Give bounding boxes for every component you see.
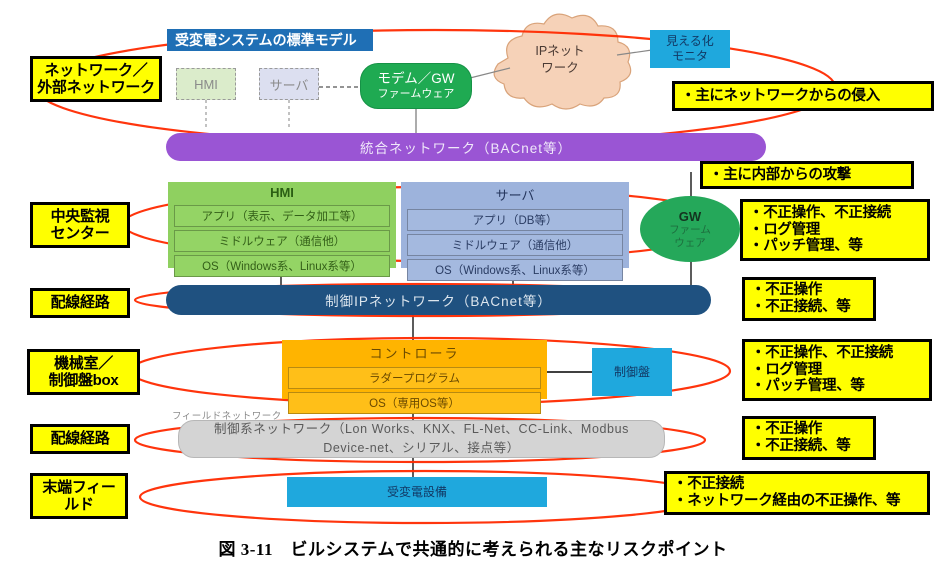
hmi-layer-app: アプリ（表示、データ加工等）	[174, 205, 390, 227]
right-label-line: ・ネットワーク経由の不正操作、等	[673, 493, 900, 510]
left-label-wiring-route-1[interactable]: 配線経路	[30, 288, 130, 318]
left-label-central-monitoring[interactable]: 中央監視 センター	[30, 202, 130, 248]
ghost-hmi-label: HMI	[194, 77, 218, 92]
visualization-monitor-line2: モニタ	[672, 49, 708, 64]
right-label-line: ・不正操作	[751, 421, 850, 438]
ip-network-line2: ワーク	[541, 60, 579, 77]
field-network-caption: フィールドネットワーク	[172, 408, 352, 420]
left-label-line: 機械室／	[54, 355, 113, 372]
controller-layer-ladder: ラダープログラム	[288, 367, 541, 389]
right-label-line: ・不正操作	[751, 282, 850, 299]
right-label-risk-network-intrusion[interactable]: ・主にネットワークからの侵入	[672, 81, 934, 111]
left-label-line: 外部ネットワーク	[37, 79, 155, 96]
visualization-monitor-box: 見える化 モニタ	[650, 30, 730, 68]
ip-network-cloud: IPネット ワーク	[505, 36, 615, 84]
modem-gw-title: モデム／GW	[378, 71, 455, 88]
server-layer-os: OS（Windows系、Linux系等）	[407, 259, 623, 281]
server-panel-title: サーバ	[407, 184, 623, 206]
left-label-wiring-route-2[interactable]: 配線経路	[30, 424, 130, 454]
ghost-hmi-box: HMI	[176, 68, 236, 100]
diagram-canvas: ネットワーク／ 外部ネットワーク 中央監視 センター 配線経路 機械室／ 制御盤…	[0, 0, 946, 575]
hmi-layer-os: OS（Windows系、Linux系等）	[174, 255, 390, 277]
left-label-line: 中央監視	[51, 208, 110, 225]
gw-firmware-line3: ウェア	[674, 237, 706, 250]
left-label-line: 末端フィー	[42, 479, 115, 496]
control-ip-network-label: 制御IPネットワーク（BACnet等）	[325, 290, 552, 310]
diagram-title-text: 受変電システムの標準モデル	[175, 30, 357, 50]
field-network-bar: 制御系ネットワーク（Lon Works、KNX、FL-Net、CC-Link、M…	[178, 420, 665, 458]
gw-firmware-title: GW	[679, 209, 701, 225]
right-label-risk-terminal-field[interactable]: ・不正接続 ・ネットワーク経由の不正操作、等	[664, 471, 930, 515]
right-label-line: ・不正接続	[673, 476, 900, 493]
left-label-network-external[interactable]: ネットワーク／ 外部ネットワーク	[30, 56, 162, 102]
right-label-line: ・パッチ管理、等	[751, 378, 893, 395]
right-label-risk-controller[interactable]: ・不正操作、不正接続 ・ログ管理 ・パッチ管理、等	[742, 339, 932, 401]
controller-panel-title: コントローラ	[288, 342, 541, 364]
server-layer-middleware: ミドルウェア（通信他）	[407, 234, 623, 256]
right-label-line: ・不正操作、不正接続	[749, 205, 891, 222]
integrated-network-label: 統合ネットワーク（BACnet等）	[360, 137, 572, 157]
left-label-line: 制御盤box	[49, 372, 119, 389]
substation-equipment-box: 受変電設備	[287, 477, 547, 507]
figure-caption: 図 3-11 ビルシステムで共通的に考えられる主なリスクポイント	[0, 535, 946, 559]
hmi-panel-title: HMI	[174, 184, 390, 202]
right-label-line: ・主にネットワークからの侵入	[681, 88, 880, 105]
diagram-title-banner: 受変電システムの標準モデル	[167, 29, 373, 51]
ghost-server-box: サーバ	[259, 68, 319, 100]
ghost-server-label: サーバ	[270, 75, 309, 94]
left-label-line: センター	[51, 225, 110, 242]
controller-panel: コントローラ ラダープログラム OS（専用OS等）	[282, 340, 547, 399]
left-label-line: 配線経路	[51, 294, 110, 311]
substation-equipment-label: 受変電設備	[387, 485, 447, 500]
field-network-line2: Device-net、シリアル、接点等）	[323, 439, 520, 458]
right-label-line: ・ログ管理	[749, 222, 891, 239]
integrated-network-bar: 統合ネットワーク（BACnet等）	[166, 133, 766, 161]
gw-firmware-node: GW ファーム ウェア	[640, 196, 740, 262]
ip-network-line1: IPネット	[535, 43, 584, 60]
right-label-line: ・不正接続、等	[751, 438, 850, 455]
right-label-risk-internal-attack[interactable]: ・主に内部からの攻撃	[700, 161, 914, 189]
left-label-terminal-field[interactable]: 末端フィー ルド	[30, 473, 128, 519]
visualization-monitor-line1: 見える化	[666, 34, 714, 49]
hmi-layer-middleware: ミドルウェア（通信他）	[174, 230, 390, 252]
right-label-line: ・不正接続、等	[751, 299, 850, 316]
server-layer-app: アプリ（DB等）	[407, 209, 623, 231]
left-label-line: ネットワーク／	[45, 62, 148, 79]
modem-gw-subtitle: ファームウェア	[378, 88, 455, 102]
left-label-line: 配線経路	[51, 430, 110, 447]
hmi-panel: HMI アプリ（表示、データ加工等） ミドルウェア（通信他） OS（Window…	[168, 182, 396, 268]
right-label-risk-field-network[interactable]: ・不正操作 ・不正接続、等	[742, 416, 876, 460]
right-label-line: ・ログ管理	[751, 362, 893, 379]
modem-gw-node: モデム／GW ファームウェア	[360, 63, 472, 109]
gw-firmware-line2: ファーム	[669, 224, 711, 237]
control-panel-label: 制御盤	[614, 365, 650, 380]
control-ip-network-bar: 制御IPネットワーク（BACnet等）	[166, 285, 711, 315]
left-label-machine-room[interactable]: 機械室／ 制御盤box	[27, 349, 140, 395]
server-panel: サーバ アプリ（DB等） ミドルウェア（通信他） OS（Windows系、Lin…	[401, 182, 629, 268]
right-label-risk-server-gw[interactable]: ・不正操作、不正接続 ・ログ管理 ・パッチ管理、等	[740, 199, 930, 261]
right-label-risk-control-network[interactable]: ・不正操作 ・不正接続、等	[742, 277, 876, 321]
left-label-line: ルド	[64, 496, 93, 513]
right-label-line: ・パッチ管理、等	[749, 238, 891, 255]
control-panel-box: 制御盤	[592, 348, 672, 396]
field-network-line1: 制御系ネットワーク（Lon Works、KNX、FL-Net、CC-Link、M…	[214, 420, 629, 439]
right-label-line: ・不正操作、不正接続	[751, 345, 893, 362]
right-label-line: ・主に内部からの攻撃	[709, 167, 851, 184]
